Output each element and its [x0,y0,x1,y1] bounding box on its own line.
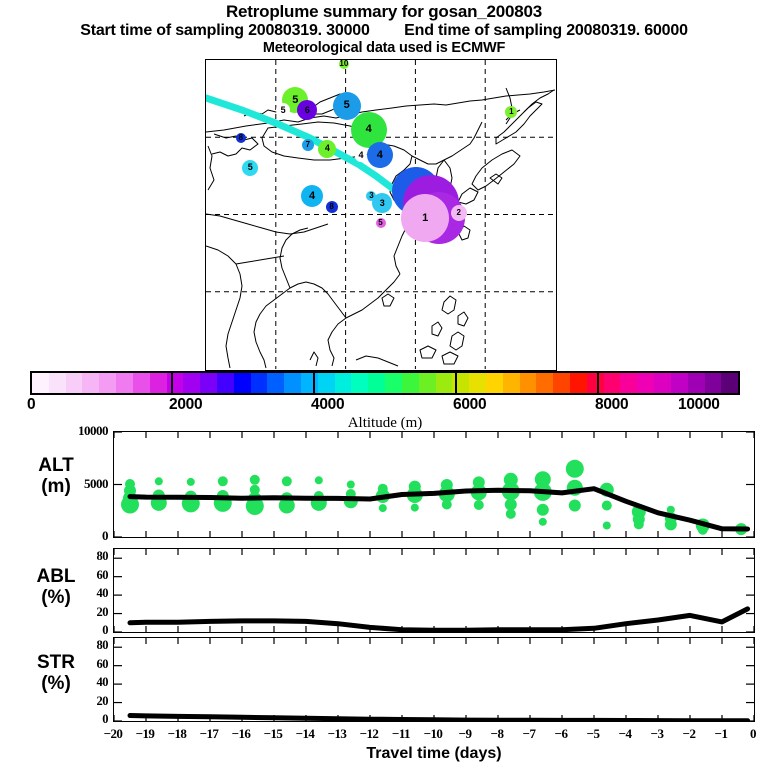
colorbar-swatch [318,373,335,393]
map-retroplume-marker[interactable]: 2 [451,205,467,221]
abl-chart-svg [114,549,754,632]
alt-scatter-point [441,479,453,491]
x-axis-tick-label: −20 [96,726,130,742]
alt-scatter-point [409,481,421,493]
y-axis-tick-label: 20 [0,694,108,709]
str-axis-ticks [114,638,754,721]
colorbar-swatch [469,373,486,393]
colorbar-tick-label: 4000 [311,396,344,414]
abl-chart[interactable] [113,548,755,633]
colorbar-swatch [284,373,301,393]
colorbar-tick [171,371,174,395]
header-block: Retroplume summary for gosan_200803 Star… [0,2,768,57]
x-axis-tick-label: −14 [288,726,322,742]
x-axis-tick-label: −18 [160,726,194,742]
y-axis-tick-label: 40 [0,586,108,601]
colorbar-swatch [620,373,637,393]
map-retroplume-marker[interactable]: 8 [326,201,338,213]
map-retroplume-marker[interactable]: 5 [376,218,386,228]
colorbar-swatch [536,373,553,393]
map-retroplume-marker[interactable]: 5 [242,160,258,176]
colorbar-tick-label: 8000 [595,396,628,414]
retroplume-map[interactable]: 10565548744454833523321121 [205,59,557,371]
alt-scatter-point [537,504,549,516]
alt-scatter-point [634,519,644,529]
colorbar-swatch [402,373,419,393]
colorbar-swatch [200,373,217,393]
colorbar-swatch [66,373,83,393]
alt-scatter-point [282,476,292,486]
x-axis-tick-label: −7 [512,726,546,742]
sampling-time-line: Start time of sampling 20080319. 30000 E… [0,21,768,40]
alt-scatter-point [315,476,323,484]
colorbar-swatch [637,373,654,393]
alt-scatter-point [187,478,195,486]
y-axis-tick-label: 80 [0,638,108,653]
x-axis-tick-label: −5 [576,726,610,742]
x-axis-tick-label: −10 [416,726,450,742]
page-title: Retroplume summary for gosan_200803 [0,2,768,21]
map-retroplume-marker[interactable]: 4 [318,140,336,158]
map-retroplume-marker[interactable]: 4 [301,185,323,207]
y-axis-tick-label: 60 [0,568,108,583]
y-axis-tick-label: 20 [0,605,108,620]
colorbar-swatch [520,373,537,393]
colorbar-tick-label: 0 [27,396,35,414]
alt-label-line1: ALT [4,455,108,476]
x-axis-title: Travel time (days) [113,745,755,763]
map-gridlines [206,60,555,369]
map-coastlines-svg [206,60,555,369]
colorbar-swatch [436,373,453,393]
alt-scatter-point [602,501,612,511]
colorbar-swatch [351,373,368,393]
y-axis-tick-label: 0 [0,623,108,638]
alt-scatter-point [506,509,516,519]
alt-scatter-point [379,504,387,512]
colorbar-swatch [267,373,284,393]
map-retroplume-marker[interactable]: 10 [339,59,349,69]
alt-scatter-point [474,500,484,510]
colorbar-swatch [167,373,184,393]
colorbar-swatch [82,373,99,393]
colorbar-swatch [688,373,705,393]
x-axis-tick-label: −15 [256,726,290,742]
alt-chart[interactable] [113,431,755,538]
map-retroplume-marker[interactable]: 5 [276,103,290,117]
colorbar-swatch [503,373,520,393]
alt-scatter-point [504,473,518,487]
map-retroplume-marker[interactable]: 8 [236,133,246,143]
y-axis-tick-label: 0 [0,528,108,544]
x-axis-tick-label: −19 [128,726,162,742]
alt-scatter-point [155,477,163,485]
alt-scatter-point [570,502,580,512]
met-data-label: Meteorological data used is ECMWF [0,40,768,57]
colorbar-gradient [30,371,740,395]
colorbar-swatch [116,373,133,393]
alt-scatter-point [125,479,135,489]
colorbar-axis-title: Altitude (m) [30,415,740,432]
alt-scatter-point [218,476,228,486]
x-axis-tick-label: −4 [608,726,642,742]
str-chart[interactable] [113,637,755,722]
y-axis-tick-label: 80 [0,549,108,564]
y-axis-tick-label: 60 [0,657,108,672]
colorbar-swatch [133,373,150,393]
colorbar-swatch [335,373,352,393]
x-axis-tick-label: −9 [448,726,482,742]
colorbar-swatch [150,373,167,393]
colorbar-swatch [705,373,722,393]
map-retroplume-marker[interactable]: 7 [302,139,314,151]
x-axis-tick-label: −13 [320,726,354,742]
colorbar-tick-label: 10000 [678,396,720,414]
map-retroplume-marker[interactable]: 1 [401,194,449,242]
alt-scatter-point [378,484,388,494]
colorbar-swatch [99,373,116,393]
colorbar-tick-label: 6000 [453,396,486,414]
map-retroplume-marker[interactable]: 3 [372,193,392,213]
alt-scatter-point [505,499,517,511]
x-axis-tick-label: −3 [640,726,674,742]
str-line [130,716,748,721]
x-axis-tick-label: −6 [544,726,578,742]
colorbar-swatch [217,373,234,393]
colorbar-swatch [32,373,49,393]
colorbar-swatch [486,373,503,393]
alt-scatter-point [250,475,260,485]
colorbar-tick [313,371,316,395]
str-chart-svg [114,638,754,721]
x-axis-tick-label: −2 [672,726,706,742]
x-axis-tick-label: −11 [384,726,418,742]
end-time-label: End time of sampling 20080319. 60000 [404,22,688,39]
map-retroplume-marker[interactable]: 4 [367,142,393,168]
y-axis-tick-label: 10000 [0,423,108,439]
alt-scatter-point [667,506,675,514]
colorbar-swatch [553,373,570,393]
colorbar-swatch [183,373,200,393]
colorbar-swatch [721,373,738,393]
alt-axis-ticks [114,432,754,537]
x-axis-tick-label: −8 [480,726,514,742]
altitude-colorbar: 0200040006000800010000 Altitude (m) [30,371,740,395]
colorbar-tick [455,371,458,395]
alt-scatter-point [442,500,452,510]
x-axis-tick-label: −1 [704,726,738,742]
colorbar-swatch [654,373,671,393]
alt-scatter-point [539,518,547,526]
colorbar-swatch [570,373,587,393]
map-retroplume-marker[interactable]: 6 [297,100,317,120]
colorbar-swatch [49,373,66,393]
x-axis-tick-label: −12 [352,726,386,742]
alt-scatter-point [347,481,355,489]
alt-chart-svg [114,432,754,537]
colorbar-swatch [419,373,436,393]
abl-line [130,609,748,630]
colorbar-tick [597,371,600,395]
colorbar-swatch [234,373,251,393]
y-axis-tick-label: 40 [0,675,108,690]
alt-scatter-point [566,460,584,478]
x-axis-tick-label: 0 [736,726,768,742]
alt-scatter-point [473,476,485,488]
colorbar-swatch [368,373,385,393]
alt-scatter-point [535,471,551,487]
y-axis-tick-label: 5000 [0,476,108,492]
alt-scatter-point [665,518,677,530]
colorbar-tick-label: 2000 [169,396,202,414]
map-retroplume-marker[interactable]: 4 [355,150,367,162]
x-axis-tick-label: −16 [224,726,258,742]
colorbar-swatch [671,373,688,393]
start-time-label: Start time of sampling 20080319. 30000 [80,22,369,39]
alt-scatter-point [250,485,260,495]
y-axis-tick-label: 0 [0,712,108,727]
colorbar-swatch [251,373,268,393]
alt-scatter-point [603,522,611,530]
alt-scatter-point [411,504,419,512]
colorbar-swatch [385,373,402,393]
colorbar-swatch [587,373,604,393]
x-axis-tick-label: −17 [192,726,226,742]
colorbar-swatch [604,373,621,393]
colorbar-tick-labels: 0200040006000800010000 [30,396,768,416]
map-retroplume-marker[interactable]: 1 [505,106,517,118]
